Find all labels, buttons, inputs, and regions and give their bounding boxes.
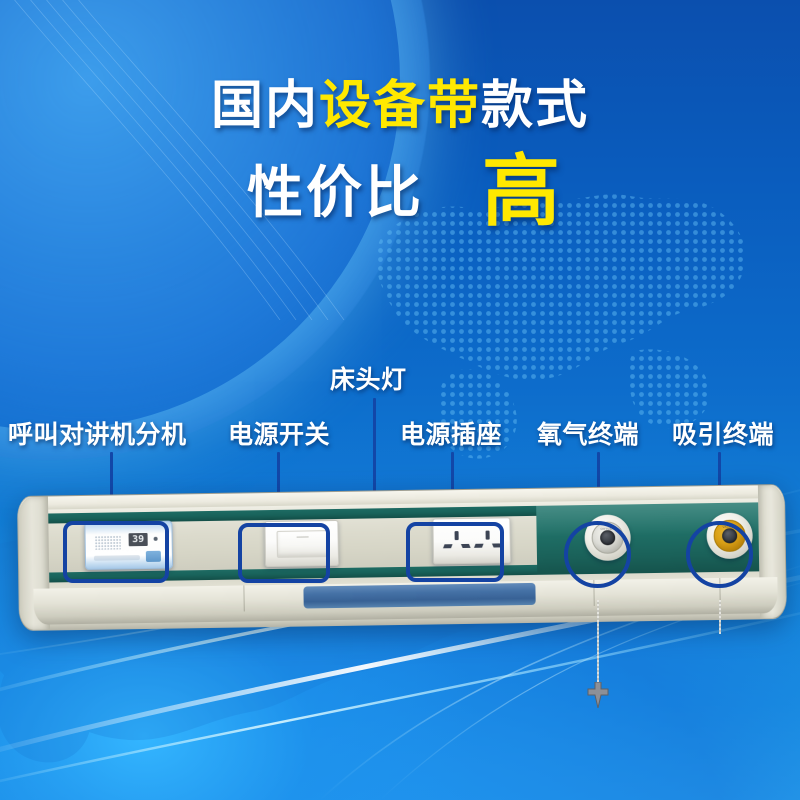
socket-slot-right <box>492 543 502 547</box>
panel-lower-rail <box>33 577 777 625</box>
callout-label-power-switch: 电源开关 <box>228 415 330 451</box>
suction-pull-cord[interactable] <box>719 600 721 634</box>
nurse-call-intercom-unit[interactable]: 39 <box>84 521 173 570</box>
callout-label-bed-lamp: 床头灯 <box>330 360 407 396</box>
power-switch-device[interactable] <box>264 520 339 567</box>
socket-outlet-2[interactable] <box>475 530 501 554</box>
callout-group: 呼叫对讲机分机 电源开关 床头灯 电源插座 氧气终端 吸引终端 <box>0 0 800 800</box>
socket-slot-vertical <box>455 531 459 540</box>
bed-lamp-diffuser <box>303 583 535 609</box>
promo-image-stage: 国内设备带款式 性价比高 呼叫对讲机分机 电源开关 床头灯 电源插座 氧气终端 … <box>0 0 800 800</box>
speaker-grille-icon <box>95 535 121 549</box>
oxygen-pull-cord[interactable] <box>597 600 599 688</box>
rail-seam <box>243 585 244 611</box>
intercom-call-button[interactable] <box>146 551 161 562</box>
callout-label-suction: 吸引终端 <box>672 415 774 451</box>
status-led-icon <box>154 537 158 541</box>
power-socket-device[interactable] <box>432 517 511 564</box>
pull-cord-handle-icon[interactable] <box>587 682 609 708</box>
callout-label-intercom: 呼叫对讲机分机 <box>8 415 187 451</box>
panel-body: 39 <box>17 484 787 631</box>
switch-rocker[interactable] <box>277 530 329 558</box>
rail-seam <box>593 580 594 606</box>
intercom-slot <box>94 555 140 561</box>
callout-label-oxygen: 氧气终端 <box>537 415 639 451</box>
bed-head-unit-panel: 39 <box>17 484 787 631</box>
callout-label-power-socket: 电源插座 <box>400 415 502 451</box>
socket-slot-left <box>474 544 484 548</box>
socket-outlet-1[interactable] <box>444 531 470 555</box>
intercom-display: 39 <box>129 533 148 546</box>
socket-slot-left <box>443 544 453 548</box>
socket-slot-vertical <box>486 531 490 540</box>
switch-mark <box>297 536 309 537</box>
socket-slot-right <box>461 544 471 548</box>
